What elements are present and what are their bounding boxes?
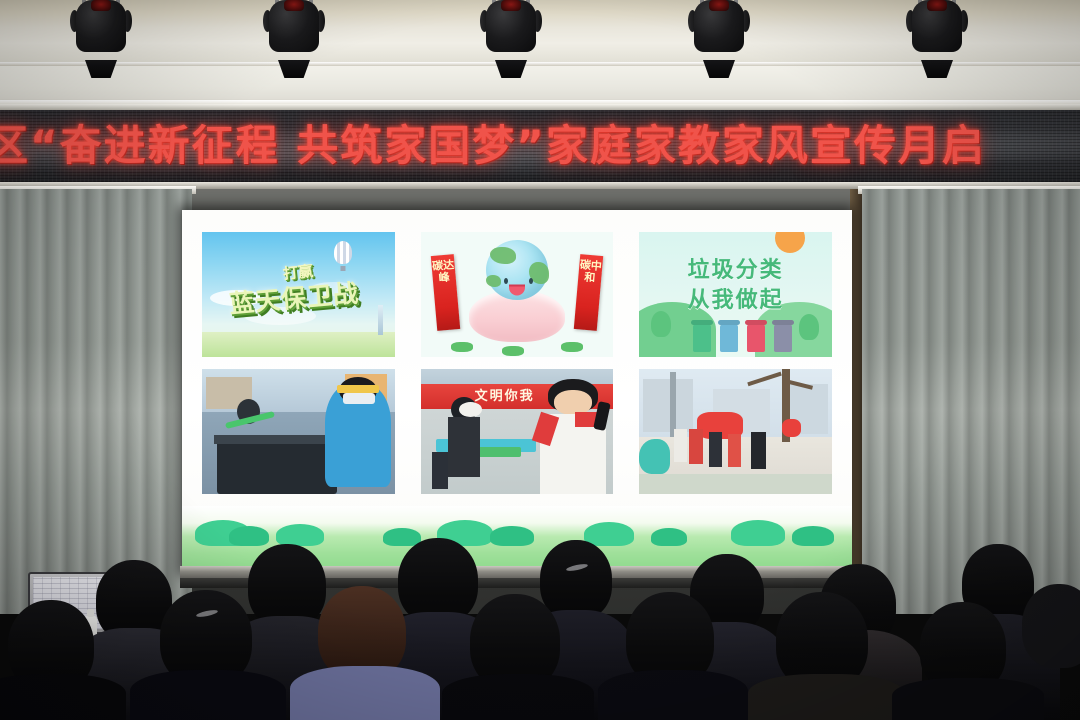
stage-spotlight-icon (680, 0, 758, 66)
audience-body (892, 678, 1044, 720)
slide-tile-carbon-goals-poster: 碳达峰 碳中和 (421, 232, 614, 357)
audience-body (598, 670, 748, 720)
slide-tile-student-speech-photo: 文明你我 (421, 369, 614, 494)
bin-gray-icon (774, 324, 792, 352)
audience-body (290, 666, 440, 720)
bin-blue-icon (720, 324, 738, 352)
poster-title-line2: 蓝天保卫战 (228, 273, 361, 320)
photo-banner-text: 文明你我 (475, 385, 535, 404)
audience-body (0, 674, 126, 720)
slide-tile-grid: 打赢 蓝天保卫战 碳达峰 碳中和 (202, 232, 832, 494)
poster-title-line2: 从我做起 (688, 282, 784, 314)
audience-area (0, 510, 1080, 720)
slide-tile-volunteer-sorting-bins-photo (202, 369, 395, 494)
audience-body (130, 670, 286, 720)
auditorium-scene: 区“奋进新征程 共筑家国梦”家庭家教家风宣传月启 打赢 蓝天保卫战 (0, 0, 1080, 720)
audience-head (540, 540, 612, 620)
bin-red-icon (747, 324, 765, 352)
poster-title-line1: 垃圾分类 (688, 252, 784, 284)
stage-spotlight-icon (898, 0, 976, 66)
audience-body (442, 674, 594, 720)
slide-tile-waste-sorting-poster: 垃圾分类 从我做起 (639, 232, 832, 357)
slide-tile-blue-sky-poster: 打赢 蓝天保卫战 (202, 232, 395, 357)
bin-green-icon (693, 324, 711, 352)
stage-spotlight-icon (62, 0, 140, 66)
scroll-right-text: 碳中和 (574, 254, 603, 331)
stage-spotlight-icon (472, 0, 550, 66)
audience-head (1022, 584, 1080, 668)
upper-wall (0, 66, 1080, 104)
audience-body (748, 674, 904, 720)
hot-air-balloon-icon (334, 241, 352, 264)
led-banner: 区“奋进新征程 共筑家国梦”家庭家教家风宣传月启 (0, 110, 1080, 182)
led-banner-text: 区“奋进新征程 共筑家国梦”家庭家教家风宣传月启 (0, 125, 986, 167)
slide-tile-community-activity-photo (639, 369, 832, 494)
sun-icon (775, 232, 805, 253)
stage-spotlight-icon (255, 0, 333, 66)
scroll-left-text: 碳达峰 (431, 254, 460, 331)
